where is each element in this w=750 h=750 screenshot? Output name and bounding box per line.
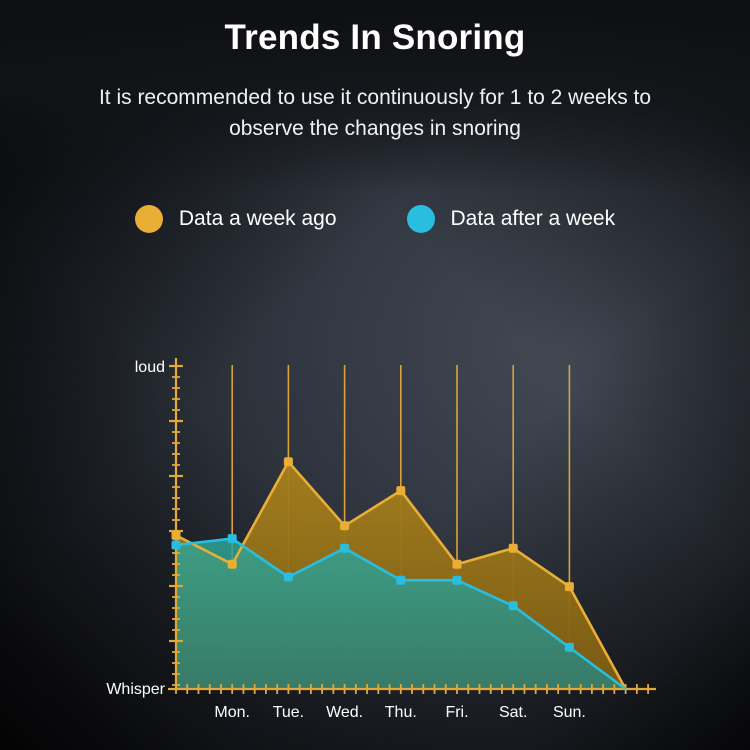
data-point-after [453, 576, 462, 585]
data-point-after [396, 576, 405, 585]
data-point-before [284, 457, 293, 466]
data-point-after [284, 573, 293, 582]
y-axis-top-label: loud [135, 359, 165, 376]
data-point-after [509, 601, 518, 610]
data-point-before [340, 521, 349, 530]
x-tick-label: Fri. [445, 704, 468, 721]
data-point-before [172, 531, 181, 540]
data-point-before [565, 582, 574, 591]
snoring-trends-card: Trends In Snoring It is recommended to u… [0, 0, 750, 750]
data-point-after [340, 544, 349, 553]
y-axis-bottom-label: Whisper [106, 681, 165, 698]
snoring-chart: Mon.Tue.Wed.Thu.Fri.Sat.Sun. loudWhisper [0, 0, 750, 750]
data-point-before [509, 544, 518, 553]
data-point-before [396, 486, 405, 495]
y-axis-labels: loudWhisper [106, 359, 165, 698]
data-point-after [172, 541, 181, 550]
data-point-before [228, 560, 237, 569]
x-axis-tick-labels: Mon.Tue.Wed.Thu.Fri.Sat.Sun. [214, 704, 585, 721]
data-point-after [228, 534, 237, 543]
x-tick-label: Mon. [214, 704, 250, 721]
x-tick-label: Sat. [499, 704, 527, 721]
x-tick-label: Tue. [273, 704, 304, 721]
x-tick-label: Thu. [385, 704, 417, 721]
chart-svg: Mon.Tue.Wed.Thu.Fri.Sat.Sun. loudWhisper [0, 0, 750, 750]
x-tick-label: Sun. [553, 704, 586, 721]
data-point-before [453, 560, 462, 569]
x-tick-label: Wed. [326, 704, 363, 721]
data-point-after [565, 643, 574, 652]
